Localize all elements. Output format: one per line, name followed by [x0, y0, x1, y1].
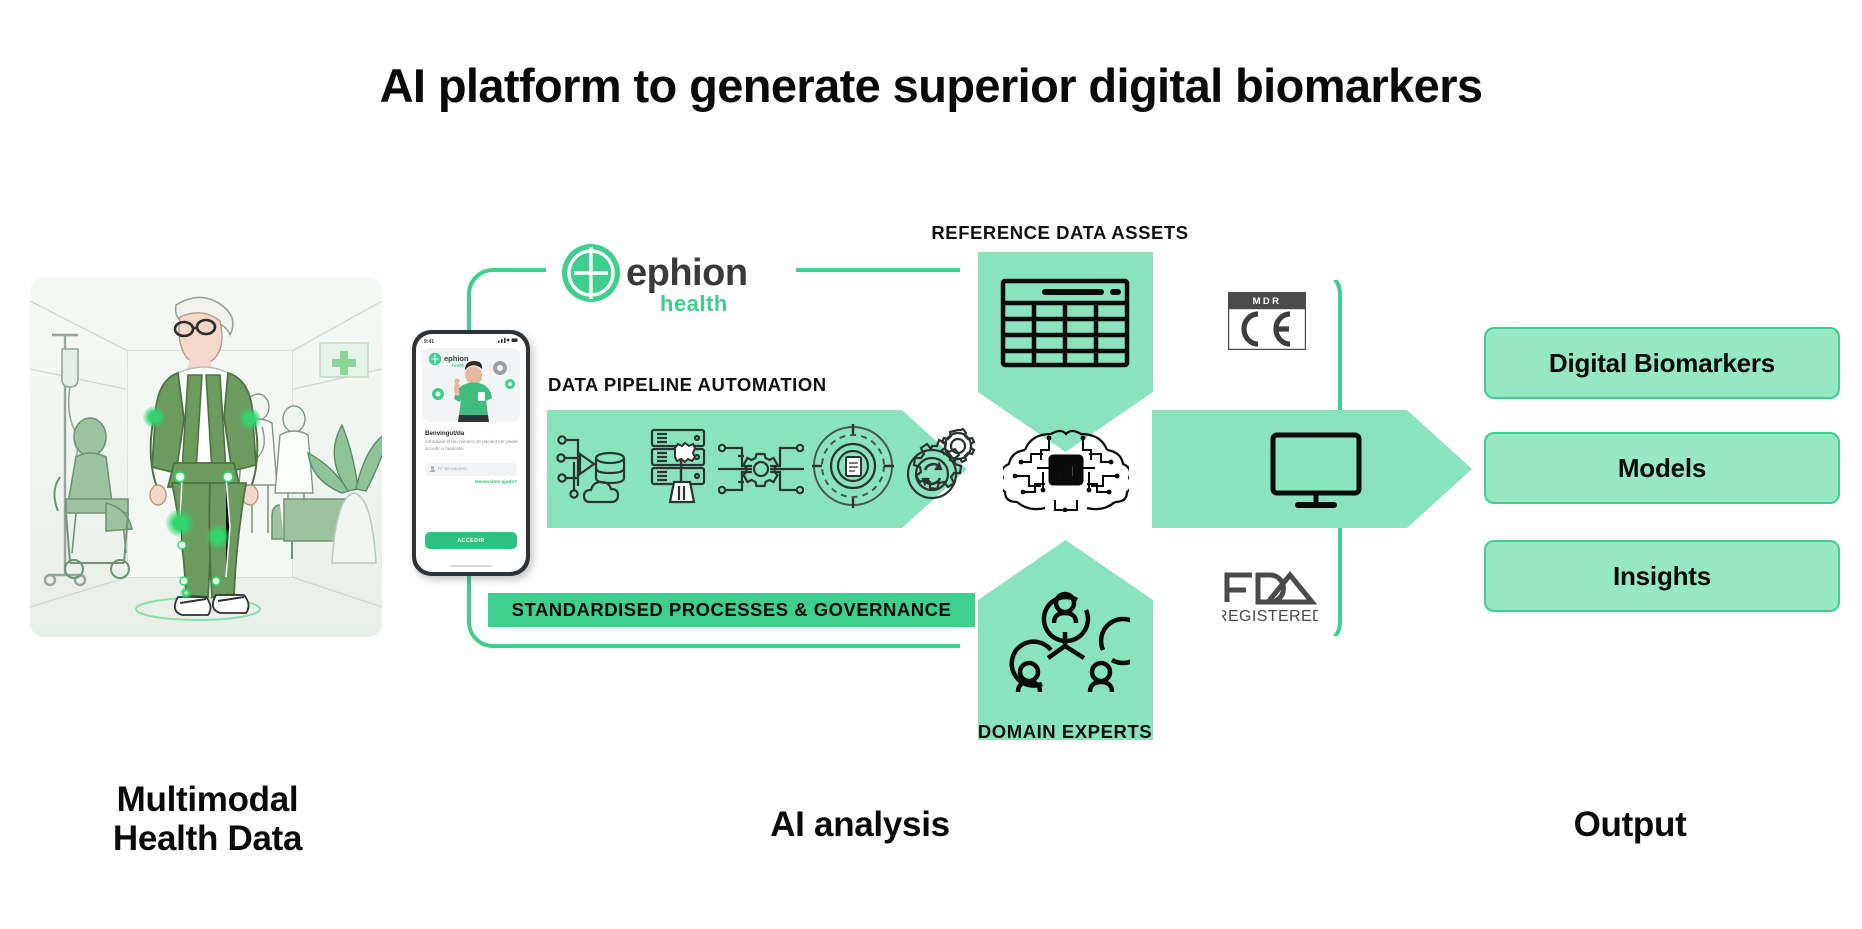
svg-text:ephion: ephion — [626, 252, 748, 294]
svg-text:REGISTERED: REGISTERED — [1222, 608, 1318, 625]
svg-text:health: health — [660, 291, 728, 315]
svg-text:ephion: ephion — [444, 354, 469, 363]
patient-app-phone-mockup: 9:41 ephion health — [412, 330, 534, 580]
desktop-monitor-icon — [1270, 432, 1362, 512]
svg-text:AI: AI — [1058, 462, 1075, 481]
svg-text:health: health — [452, 363, 465, 368]
help-link[interactable]: Necessites ajuda? — [475, 480, 517, 485]
status-time: 9:41 — [424, 339, 434, 345]
patient-number-input[interactable]: Nº de pacient — [425, 463, 517, 476]
caption-left-line1: Multimodal — [25, 780, 390, 819]
phone-welcome-title: Benvingut/da — [425, 430, 519, 437]
caption-left-line2: Health Data — [25, 819, 390, 858]
three-people-network-icon — [1000, 582, 1130, 700]
home-indicator — [450, 565, 492, 568]
label-reference-data-assets: REFERENCE DATA ASSETS — [900, 222, 1220, 244]
caption-ai-analysis: AI analysis — [660, 805, 1060, 844]
phone-welcome-subtitle: Introdueix el teu número de pacient per … — [425, 439, 518, 452]
ai-circuit-brain-icon: AI — [1003, 428, 1129, 512]
automation-gears-icon — [902, 428, 976, 504]
processing-network-gear-icon — [718, 440, 804, 498]
output-card-models[interactable]: Models — [1484, 432, 1840, 504]
ephion-health-logo: ephion health — [560, 243, 790, 313]
output-card-digital-biomarkers[interactable]: Digital Biomarkers — [1484, 327, 1840, 399]
status-icons — [498, 337, 518, 346]
ce-mdr-badge: MDR — [1228, 292, 1306, 350]
patient-number-placeholder: Nº de pacient — [438, 467, 467, 472]
user-icon — [430, 466, 435, 474]
data-cleaning-server-icon — [650, 428, 712, 506]
data-ingestion-cloud-database-icon — [556, 432, 632, 506]
phone-status-bar: 9:41 — [416, 337, 526, 346]
login-button[interactable]: ACCEDIR — [425, 532, 517, 549]
phone-hero-illustration: ephion health — [422, 348, 520, 422]
page-title: AI platform to generate superior digital… — [0, 58, 1862, 113]
governance-bar: STANDARDISED PROCESSES & GOVERNANCE — [488, 593, 975, 627]
fda-registered-badge: REGISTERED — [1222, 570, 1318, 626]
output-card-insights[interactable]: Insights — [1484, 540, 1840, 612]
svg-text:MDR: MDR — [1253, 296, 1282, 307]
spreadsheet-table-icon — [1000, 278, 1130, 368]
patient-walking-illustration — [30, 277, 382, 637]
label-data-pipeline-automation: DATA PIPELINE AUTOMATION — [548, 374, 898, 396]
document-analysis-gear-icon — [812, 424, 894, 508]
caption-multimodal-health-data: Multimodal Health Data — [25, 780, 390, 858]
label-domain-experts: DOMAIN EXPERTS — [930, 721, 1200, 743]
phone-screen: 9:41 ephion health — [416, 334, 526, 572]
caption-output: Output — [1420, 805, 1840, 844]
label-standardised-processes: STANDARDISED PROCESSES & GOVERNANCE — [512, 599, 952, 621]
phone-shell: 9:41 ephion health — [412, 330, 530, 576]
